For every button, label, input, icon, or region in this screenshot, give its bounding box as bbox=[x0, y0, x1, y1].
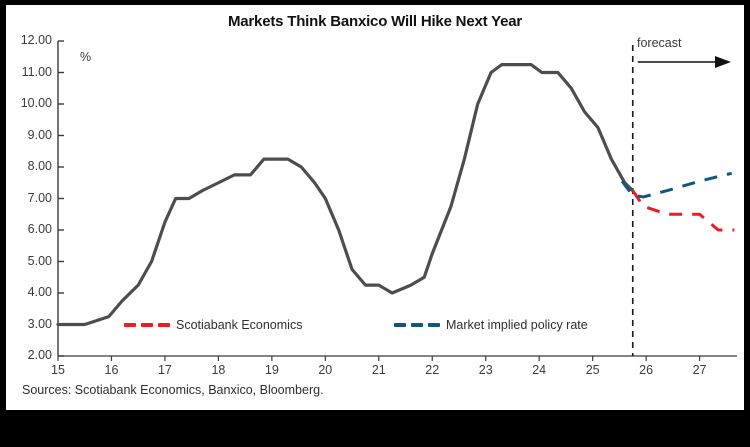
x-axis-tick-label: 22 bbox=[417, 363, 447, 377]
y-axis-tick-label: 6.00 bbox=[6, 222, 52, 236]
y-axis-tick-label: 10.00 bbox=[6, 96, 52, 110]
y-axis-tick-label: 7.00 bbox=[6, 191, 52, 205]
chart-figure: Markets Think Banxico Will Hike Next Yea… bbox=[6, 5, 744, 410]
y-axis-tick-label: 12.00 bbox=[6, 33, 52, 47]
source-note: Sources: Scotiabank Economics, Banxico, … bbox=[22, 383, 324, 397]
forecast-arrow-icon bbox=[638, 56, 731, 68]
x-axis-tick-label: 24 bbox=[524, 363, 554, 377]
y-axis-tick-label: 4.00 bbox=[6, 285, 52, 299]
series-line-0 bbox=[58, 65, 633, 325]
x-axis-tick-label: 15 bbox=[43, 363, 73, 377]
axis-ticks bbox=[58, 41, 700, 361]
y-axis-tick-label: 3.00 bbox=[6, 317, 52, 331]
series-line-2 bbox=[622, 173, 732, 197]
x-axis-tick-label: 20 bbox=[310, 363, 340, 377]
y-axis-tick-label: 5.00 bbox=[6, 254, 52, 268]
legend-label: Scotiabank Economics bbox=[176, 318, 302, 332]
legend-swatch-dashed-blue bbox=[394, 323, 440, 327]
y-axis-tick-label: 9.00 bbox=[6, 128, 52, 142]
y-axis-tick-label: 11.00 bbox=[6, 65, 52, 79]
x-axis-tick-label: 16 bbox=[96, 363, 126, 377]
y-axis-tick-label: 2.00 bbox=[6, 348, 52, 362]
x-axis-tick-label: 19 bbox=[257, 363, 287, 377]
y-axis-tick-label: 8.00 bbox=[6, 159, 52, 173]
axes bbox=[58, 41, 737, 356]
legend-item-scotiabank-economics: Scotiabank Economics bbox=[124, 318, 302, 332]
chart-legend: Scotiabank Economics Market implied poli… bbox=[116, 318, 636, 340]
legend-swatch-dashed-red bbox=[124, 323, 170, 327]
legend-item-market-implied-policy-rate: Market implied policy rate bbox=[394, 318, 588, 332]
x-axis-tick-label: 23 bbox=[471, 363, 501, 377]
plot-area bbox=[6, 5, 744, 410]
x-axis-tick-label: 17 bbox=[150, 363, 180, 377]
x-axis-tick-label: 18 bbox=[203, 363, 233, 377]
x-axis-tick-label: 21 bbox=[364, 363, 394, 377]
x-axis-tick-label: 26 bbox=[631, 363, 661, 377]
x-axis-tick-label: 27 bbox=[685, 363, 715, 377]
x-axis-tick-label: 25 bbox=[578, 363, 608, 377]
legend-label: Market implied policy rate bbox=[446, 318, 588, 332]
